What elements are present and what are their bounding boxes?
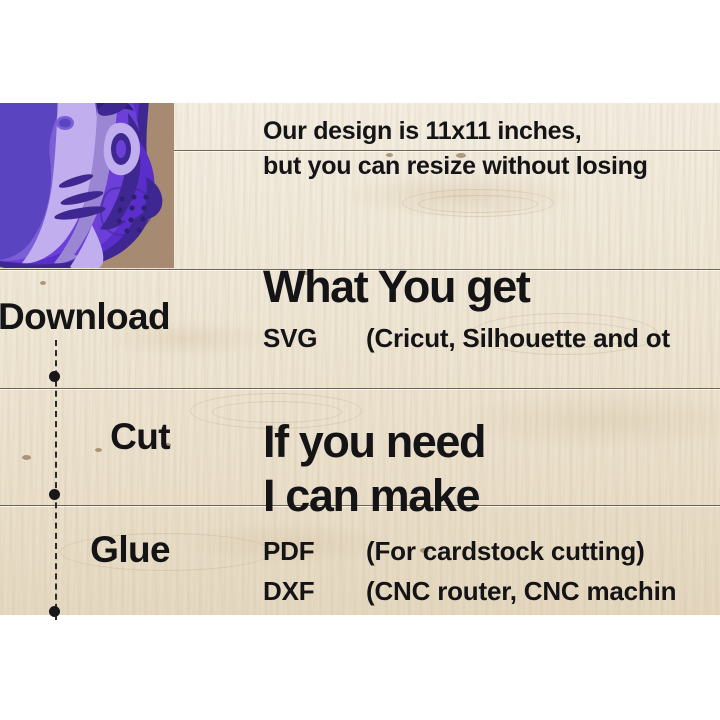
- custom-offer-heading-line-1: If you need: [263, 419, 485, 464]
- custom-offer-heading-line-2: I can make: [263, 473, 479, 518]
- format-row-dxf: DXF(CNC router, CNC machin: [263, 578, 676, 604]
- format-row-svg: SVG(Cricut, Silhouette and ot: [263, 325, 670, 351]
- format-desc-pdf: (For cardstock cutting): [366, 536, 645, 566]
- step-label-glue: Glue: [0, 531, 170, 568]
- size-note-line-2: but you can resize without losing: [263, 154, 648, 179]
- format-row-pdf: PDF(For cardstock cutting): [263, 538, 645, 564]
- size-note-line-1: Our design is 11x11 inches,: [263, 119, 581, 144]
- step-dot-cut: [49, 489, 60, 500]
- wood-grain-swirl: [402, 189, 554, 217]
- step-label-download: Download: [0, 298, 170, 335]
- format-tag-pdf: PDF: [263, 538, 366, 564]
- step-dot-download: [49, 371, 60, 382]
- steps-connector-line: [55, 340, 57, 620]
- format-tag-svg: SVG: [263, 325, 366, 351]
- wood-grain-swirl: [418, 195, 538, 213]
- step-label-cut: Cut: [0, 418, 170, 455]
- format-desc-dxf: (CNC router, CNC machin: [366, 576, 676, 606]
- step-dot-glue: [49, 606, 60, 617]
- wood-knot: [22, 455, 31, 460]
- listing-image: Download Cut Glue Our design is 11x11 in…: [0, 0, 720, 720]
- format-desc-svg: (Cricut, Silhouette and ot: [366, 323, 670, 353]
- paper-cut-cat-head-icon: [0, 103, 174, 268]
- plank-seam: [0, 388, 720, 389]
- wood-knot: [40, 281, 46, 285]
- format-tag-dxf: DXF: [263, 578, 366, 604]
- what-you-get-heading: What You get: [263, 264, 530, 309]
- product-thumbnail[interactable]: [0, 103, 174, 268]
